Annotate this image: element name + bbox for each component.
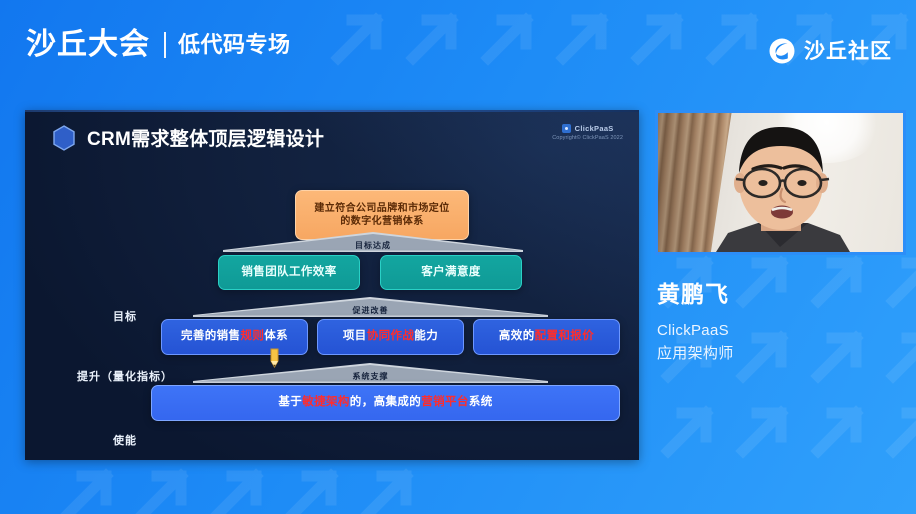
cap-3-prefix: 高效的	[499, 329, 535, 345]
speaker-webcam-video[interactable]	[655, 110, 906, 255]
foundation-box: 基于敏捷架构的，高集成的营销平台系统	[151, 385, 620, 421]
slide-area: CRM需求整体顶层逻辑设计 ClickPaaS Copyright© Click…	[25, 110, 639, 460]
site-logo: 沙丘社区	[769, 38, 892, 64]
cap-1-suffix: 体系	[264, 329, 288, 345]
connector-promote-improvement: 促进改善	[193, 297, 548, 317]
sandhill-s-logo-icon	[769, 38, 795, 64]
presentation-stage: 沙丘大会 低代码专场 沙丘社区 CRM需求整体顶层逻辑设计	[0, 0, 916, 514]
clickpaas-logo-icon	[562, 124, 571, 133]
speaker-role: 应用架构师	[657, 343, 734, 366]
base-highlight-2: 营销平台	[421, 395, 469, 411]
clickpaas-name: ClickPaaS	[575, 124, 614, 133]
slide-watermark: ClickPaaS Copyright© ClickPaaS 2022	[552, 124, 623, 141]
row-label-goal: 目标	[85, 308, 165, 324]
capability-box-quote-config: 高效的配置和报价	[473, 319, 620, 355]
goal-line-2: 的数字化营销体系	[340, 215, 423, 229]
cap-1-prefix: 完善的销售	[181, 329, 241, 345]
brand-divider	[164, 32, 166, 58]
slide-title: CRM需求整体顶层逻辑设计	[52, 124, 324, 151]
event-header: 沙丘大会 低代码专场 沙丘社区	[0, 0, 916, 100]
connector-goal-achievement: 目标达成	[223, 232, 523, 252]
hexagon-icon	[52, 125, 76, 151]
connector-system-support: 系统支撑	[193, 363, 548, 383]
slide-title-text: CRM需求整体顶层逻辑设计	[87, 124, 324, 151]
base-suffix: 系统	[469, 395, 493, 411]
cap-2-highlight: 协同作战	[367, 329, 415, 345]
kpi-box-sales-efficiency: 销售团队工作效率	[218, 255, 360, 290]
cap-2-prefix: 项目	[343, 329, 367, 345]
row-label-enablement: 使能	[85, 432, 165, 448]
capability-box-collaboration: 项目协同作战能力	[317, 319, 464, 355]
kpi-box-customer-satisfaction: 客户满意度	[380, 255, 522, 290]
speaker-info: 黄鹏飞 ClickPaaS 应用架构师	[657, 283, 734, 365]
speaker-name: 黄鹏飞	[657, 283, 734, 306]
speaker-organization: ClickPaaS	[657, 320, 734, 343]
event-brand: 沙丘大会 低代码专场	[26, 30, 291, 60]
event-title: 沙丘大会	[26, 30, 150, 60]
cap-2-suffix: 能力	[414, 329, 438, 345]
slide-top-accent-line	[25, 110, 639, 112]
connector-promote-improvement-label: 促进改善	[193, 305, 548, 316]
cap-1-highlight: 规则	[240, 329, 264, 345]
goal-line-1: 建立符合公司品牌和市场定位	[314, 202, 449, 216]
copyright-text: Copyright© ClickPaaS 2022	[552, 135, 623, 141]
cap-3-highlight: 配置和报价	[535, 329, 595, 345]
base-middle: 的，高集成的	[350, 395, 421, 411]
site-name: 沙丘社区	[804, 41, 892, 62]
connector-system-support-label: 系统支撑	[193, 371, 548, 382]
connector-goal-achievement-label: 目标达成	[223, 240, 523, 251]
base-prefix: 基于	[278, 395, 302, 411]
base-highlight-1: 敏捷架构	[302, 395, 350, 411]
event-subtitle: 低代码专场	[178, 34, 291, 56]
row-label-improvement: 提升（量化指标）	[67, 368, 183, 384]
capability-box-sales-system: 完善的销售规则体系	[161, 319, 308, 355]
webcam-speaker-figure	[658, 113, 903, 252]
